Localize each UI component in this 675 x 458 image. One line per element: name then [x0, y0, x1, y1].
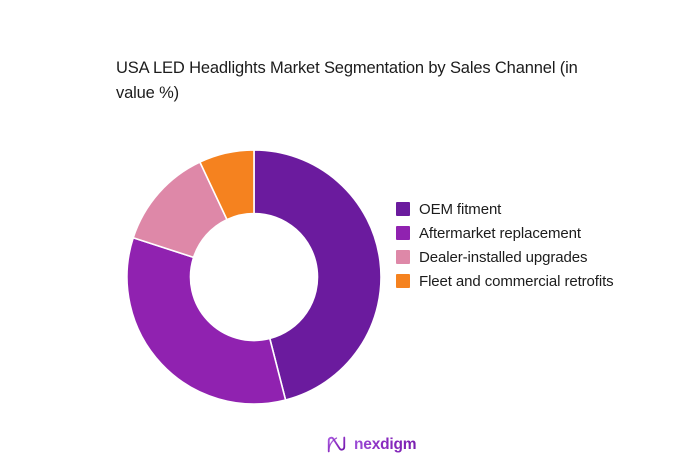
- legend-color-swatch: [396, 202, 410, 216]
- donut-slice[interactable]: [127, 238, 286, 404]
- donut-slice-group: [127, 150, 381, 404]
- legend-item[interactable]: Fleet and commercial retrofits: [396, 270, 658, 293]
- legend-item-label: Dealer-installed upgrades: [419, 246, 587, 269]
- donut-chart-svg: [127, 150, 381, 404]
- legend-item-label: Aftermarket replacement: [419, 222, 581, 245]
- legend-item[interactable]: OEM fitment: [396, 198, 658, 221]
- legend-item-label: Fleet and commercial retrofits: [419, 270, 614, 293]
- brand-wordmark: nexdigm: [354, 435, 416, 454]
- nexdigm-n-monogram-icon: [326, 435, 347, 454]
- legend-color-swatch: [396, 250, 410, 264]
- chart-legend: OEM fitmentAftermarket replacementDealer…: [396, 198, 658, 294]
- brand-logo: nexdigm: [326, 434, 416, 454]
- legend-color-swatch: [396, 274, 410, 288]
- legend-color-swatch: [396, 226, 410, 240]
- chart-figure: USA LED Headlights Market Segmentation b…: [0, 0, 675, 458]
- legend-item[interactable]: Aftermarket replacement: [396, 222, 658, 245]
- chart-title: USA LED Headlights Market Segmentation b…: [116, 56, 616, 106]
- legend-item-label: OEM fitment: [419, 198, 501, 221]
- donut-chart: [127, 150, 381, 404]
- legend-item[interactable]: Dealer-installed upgrades: [396, 246, 658, 269]
